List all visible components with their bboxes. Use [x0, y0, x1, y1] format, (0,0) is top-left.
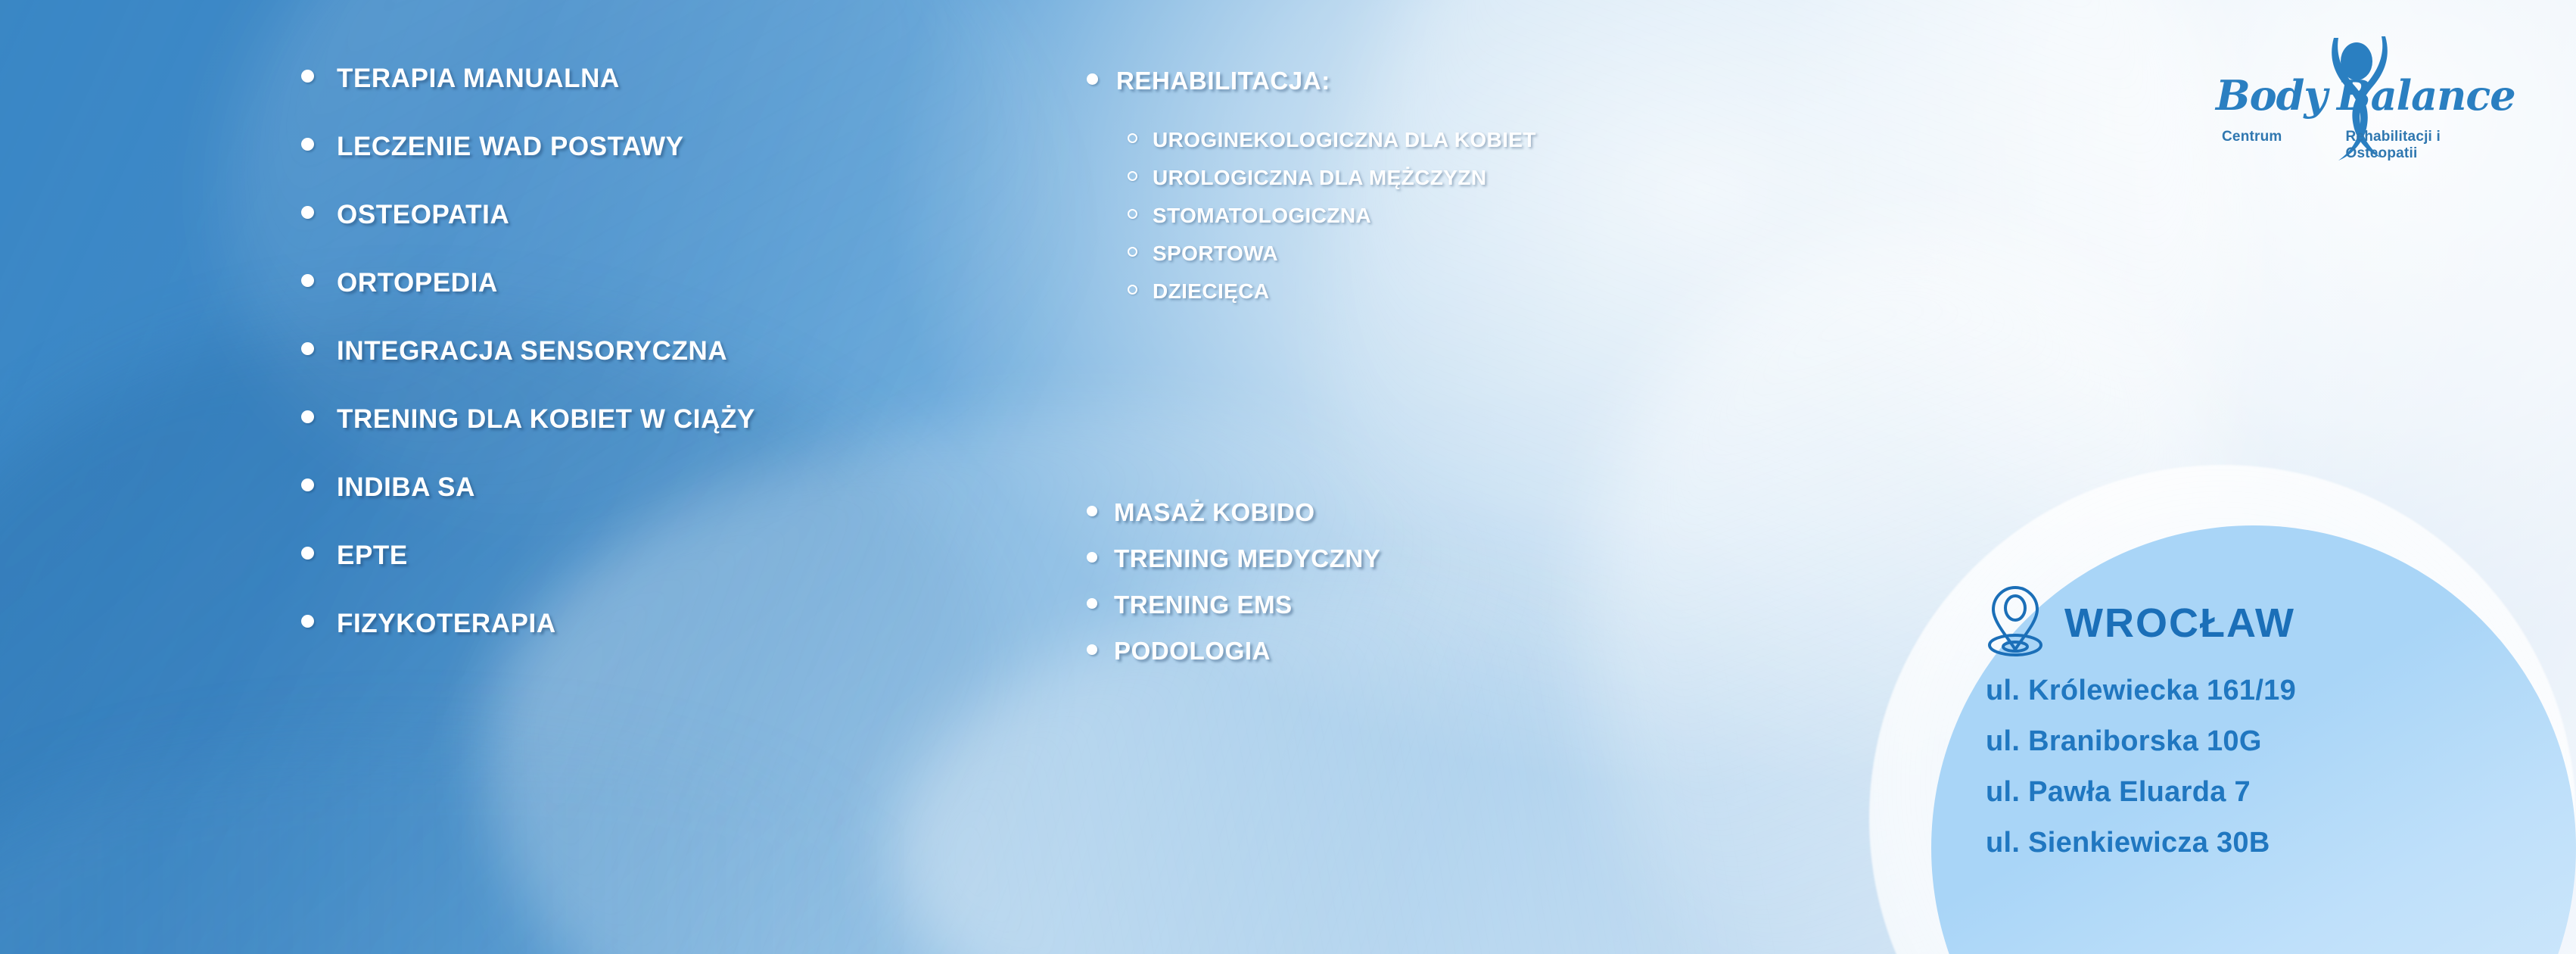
hollow-bullet-icon — [1128, 247, 1137, 257]
list-item[interactable]: MASAŻ KOBIDO — [1087, 500, 1843, 525]
service-label: INDIBA SA — [337, 474, 475, 500]
address-line[interactable]: ul. Królewiecka 161/19 — [1986, 676, 2531, 705]
rehabilitation-heading[interactable]: REHABILITACJA: — [1087, 68, 1843, 93]
service-label: TRENING DLA KOBIET W CIĄŻY — [337, 406, 755, 432]
bullet-icon — [1087, 73, 1098, 85]
list-item[interactable]: TRENING DLA KOBIET W CIĄŻY — [301, 406, 982, 432]
list-item[interactable]: TERAPIA MANUALNA — [301, 65, 982, 92]
bullet-icon — [1087, 644, 1097, 655]
services-list-left: TERAPIA MANUALNA LECZENIE WAD POSTAWY OS… — [301, 65, 982, 678]
rehabilitation-item-label: STOMATOLOGICZNA — [1153, 205, 1371, 226]
service-label: TRENING MEDYCZNY — [1114, 546, 1380, 571]
bullet-icon — [301, 70, 314, 83]
rehabilitation-item-label: UROLOGICZNA DLA MĘŻCZYZN — [1153, 167, 1486, 189]
rehabilitation-item-label: DZIECIĘCA — [1153, 281, 1270, 302]
bullet-icon — [301, 615, 314, 628]
list-item[interactable]: TRENING MEDYCZNY — [1087, 546, 1843, 571]
list-item[interactable]: EPTE — [301, 542, 982, 569]
service-label: EPTE — [337, 542, 408, 569]
bullet-icon — [1087, 598, 1097, 609]
logo-tagline-right: Rehabilitacji i Osteopatii — [2346, 129, 2514, 162]
address-line[interactable]: ul. Sienkiewicza 30B — [1986, 828, 2531, 857]
location-city: WROCŁAW — [2064, 603, 2295, 644]
logo-word-body: Body — [2216, 71, 2327, 120]
rehabilitation-heading-label: REHABILITACJA: — [1116, 68, 1330, 93]
bullet-icon — [301, 274, 314, 287]
list-item[interactable]: DZIECIĘCA — [1128, 281, 1843, 302]
list-item[interactable]: LECZENIE WAD POSTAWY — [301, 133, 982, 160]
list-item[interactable]: FIZYKOTERAPIA — [301, 610, 982, 637]
list-item[interactable]: UROGINEKOLOGICZNA DLA KOBIET — [1128, 129, 1843, 151]
rehabilitation-item-label: SPORTOWA — [1153, 243, 1278, 264]
bullet-icon — [301, 342, 314, 355]
logo-tagline: Centrum Rehabilitacji i Osteopatii — [2222, 129, 2514, 162]
list-item[interactable]: STOMATOLOGICZNA — [1128, 205, 1843, 226]
bullet-icon — [1087, 552, 1097, 563]
list-item[interactable]: UROLOGICZNA DLA MĘŻCZYZN — [1128, 167, 1843, 189]
service-label: FIZYKOTERAPIA — [337, 610, 556, 637]
map-pin-icon — [1986, 583, 2045, 662]
bullet-icon — [301, 547, 314, 560]
rehabilitation-item-label: UROGINEKOLOGICZNA DLA KOBIET — [1153, 129, 1536, 151]
location-address-list: ul. Królewiecka 161/19 ul. Braniborska 1… — [1986, 676, 2531, 857]
rehabilitation-sublist: UROGINEKOLOGICZNA DLA KOBIET UROLOGICZNA… — [1128, 129, 1843, 302]
service-label: LECZENIE WAD POSTAWY — [337, 133, 684, 160]
service-label: OSTEOPATIA — [337, 201, 509, 228]
location-block: WROCŁAW ul. Królewiecka 161/19 ul. Brani… — [1986, 583, 2531, 939]
bullet-icon — [301, 410, 314, 423]
logo-word-balance: Balance — [2337, 71, 2515, 120]
address-line[interactable]: ul. Pawła Eluarda 7 — [1986, 778, 2531, 806]
list-item[interactable]: SPORTOWA — [1128, 243, 1843, 264]
list-item[interactable]: INDIBA SA — [301, 474, 982, 500]
list-item[interactable]: TRENING EMS — [1087, 592, 1843, 617]
service-label: TRENING EMS — [1114, 592, 1293, 617]
brand-logo[interactable]: Body Balance Centrum Rehabilitacji i Ost… — [2211, 36, 2514, 157]
location-header: WROCŁAW — [1986, 583, 2531, 662]
services-banner: TERAPIA MANUALNA LECZENIE WAD POSTAWY OS… — [0, 0, 2576, 954]
bullet-icon — [301, 138, 314, 151]
service-label: TERAPIA MANUALNA — [337, 65, 620, 92]
logo-tagline-left: Centrum — [2222, 129, 2282, 162]
bullet-icon — [1087, 506, 1097, 516]
service-label: INTEGRACJA SENSORYCZNA — [337, 338, 727, 364]
service-label: PODOLOGIA — [1114, 638, 1271, 663]
hollow-bullet-icon — [1128, 209, 1137, 219]
bullet-icon — [301, 206, 314, 219]
service-label: MASAŻ KOBIDO — [1114, 500, 1315, 525]
list-item[interactable]: PODOLOGIA — [1087, 638, 1843, 663]
rehabilitation-group: REHABILITACJA: UROGINEKOLOGICZNA DLA KOB… — [1087, 68, 1843, 319]
list-item[interactable]: OSTEOPATIA — [301, 201, 982, 228]
hollow-bullet-icon — [1128, 133, 1137, 143]
hollow-bullet-icon — [1128, 285, 1137, 295]
bullet-icon — [301, 479, 314, 491]
list-item[interactable]: INTEGRACJA SENSORYCZNA — [301, 338, 982, 364]
list-item[interactable]: ORTOPEDIA — [301, 270, 982, 296]
address-line[interactable]: ul. Braniborska 10G — [1986, 727, 2531, 756]
services-list-middle: MASAŻ KOBIDO TRENING MEDYCZNY TRENING EM… — [1087, 500, 1843, 684]
hollow-bullet-icon — [1128, 171, 1137, 181]
service-label: ORTOPEDIA — [337, 270, 498, 296]
